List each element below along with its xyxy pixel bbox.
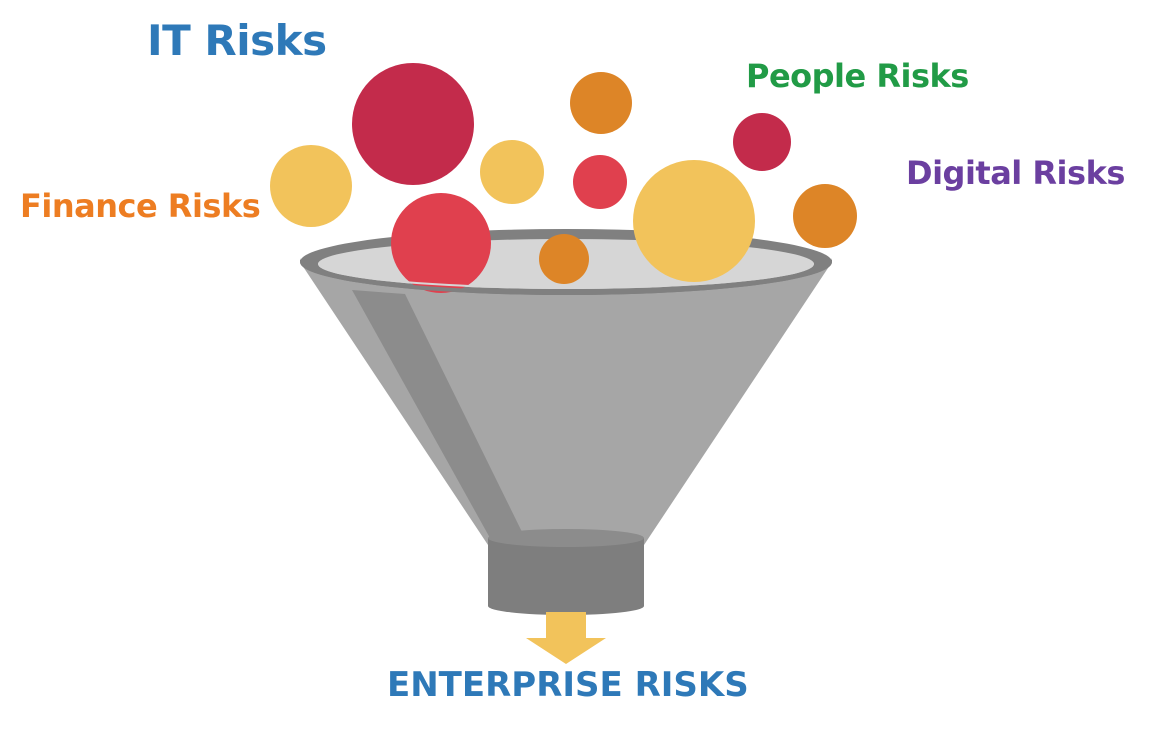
down-arrow-icon [526,612,606,664]
risk-bubble-yellow-mid[interactable] [480,140,544,204]
risk-bubble-yellow-large[interactable] [633,160,755,282]
funnel-stem-top-cap [488,529,644,547]
funnel-diagram-graphic [0,0,1150,730]
label-it-risks: IT Risks [147,20,327,62]
risk-funnel [300,229,832,615]
risk-bubble-orange-right[interactable] [793,184,857,248]
label-people-risks: People Risks [746,60,969,92]
funnel-stem [488,538,644,606]
label-enterprise-risks: ENTERPRISE RISKS [387,668,749,702]
risk-bubble-red-small-mid[interactable] [573,155,627,209]
risk-bubble-orange-inside[interactable] [539,234,589,284]
risk-bubble-red-center-left[interactable] [391,193,491,293]
label-finance-risks: Finance Risks [20,190,260,222]
risk-bubble-crimson-large[interactable] [352,63,474,185]
risk-bubble-yellow-left[interactable] [270,145,352,227]
risk-bubble-crimson-right[interactable] [733,113,791,171]
diagram-canvas: IT Risks Finance Risks People Risks Digi… [0,0,1150,730]
label-digital-risks: Digital Risks [906,157,1125,189]
risk-bubble-orange-top[interactable] [570,72,632,134]
